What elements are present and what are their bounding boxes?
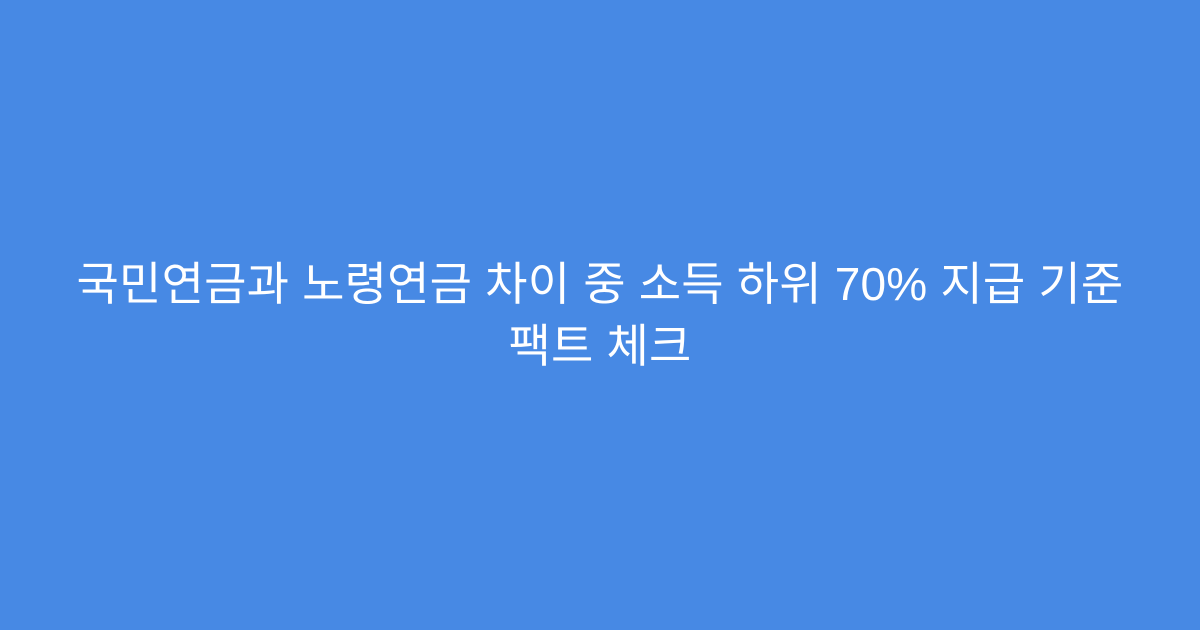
- page-title: 국민연금과 노령연금 차이 중 소득 하위 70% 지급 기준 팩트 체크: [72, 253, 1128, 377]
- og-share-card: 국민연금과 노령연금 차이 중 소득 하위 70% 지급 기준 팩트 체크: [0, 0, 1200, 630]
